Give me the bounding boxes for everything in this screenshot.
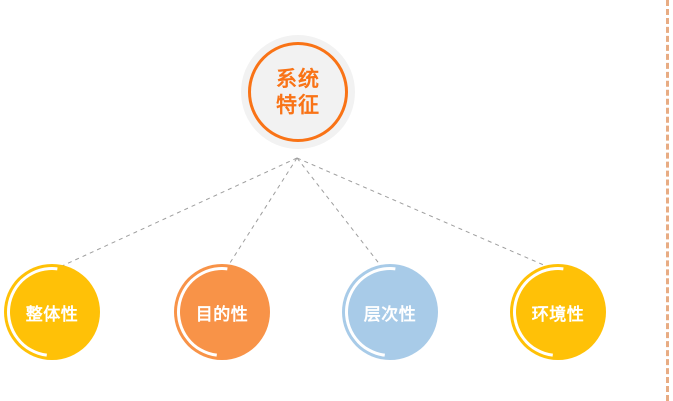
leaf-node-3-label: 层次性 bbox=[342, 264, 438, 360]
root-node-label-line1: 系统 bbox=[276, 66, 320, 92]
diagram-canvas: 系统 特征 整体性 目的性 层次性 环境性 bbox=[0, 0, 673, 401]
leaf-node-4-label: 环境性 bbox=[510, 264, 606, 360]
connector-line-1 bbox=[62, 158, 297, 266]
connector-line-4 bbox=[297, 158, 546, 266]
connector-line-3 bbox=[297, 158, 381, 266]
root-node-label-line2: 特征 bbox=[276, 92, 320, 118]
root-node-label: 系统 特征 bbox=[241, 35, 355, 149]
leaf-node-3[interactable]: 层次性 bbox=[342, 264, 438, 360]
connector-line-2 bbox=[228, 158, 297, 266]
leaf-node-1[interactable]: 整体性 bbox=[4, 264, 100, 360]
leaf-node-1-label: 整体性 bbox=[4, 264, 100, 360]
leaf-node-2-label: 目的性 bbox=[174, 264, 270, 360]
root-node-system-characteristics[interactable]: 系统 特征 bbox=[241, 35, 355, 149]
leaf-node-2[interactable]: 目的性 bbox=[174, 264, 270, 360]
leaf-node-4[interactable]: 环境性 bbox=[510, 264, 606, 360]
page-edge-dashed-rule bbox=[666, 0, 669, 401]
